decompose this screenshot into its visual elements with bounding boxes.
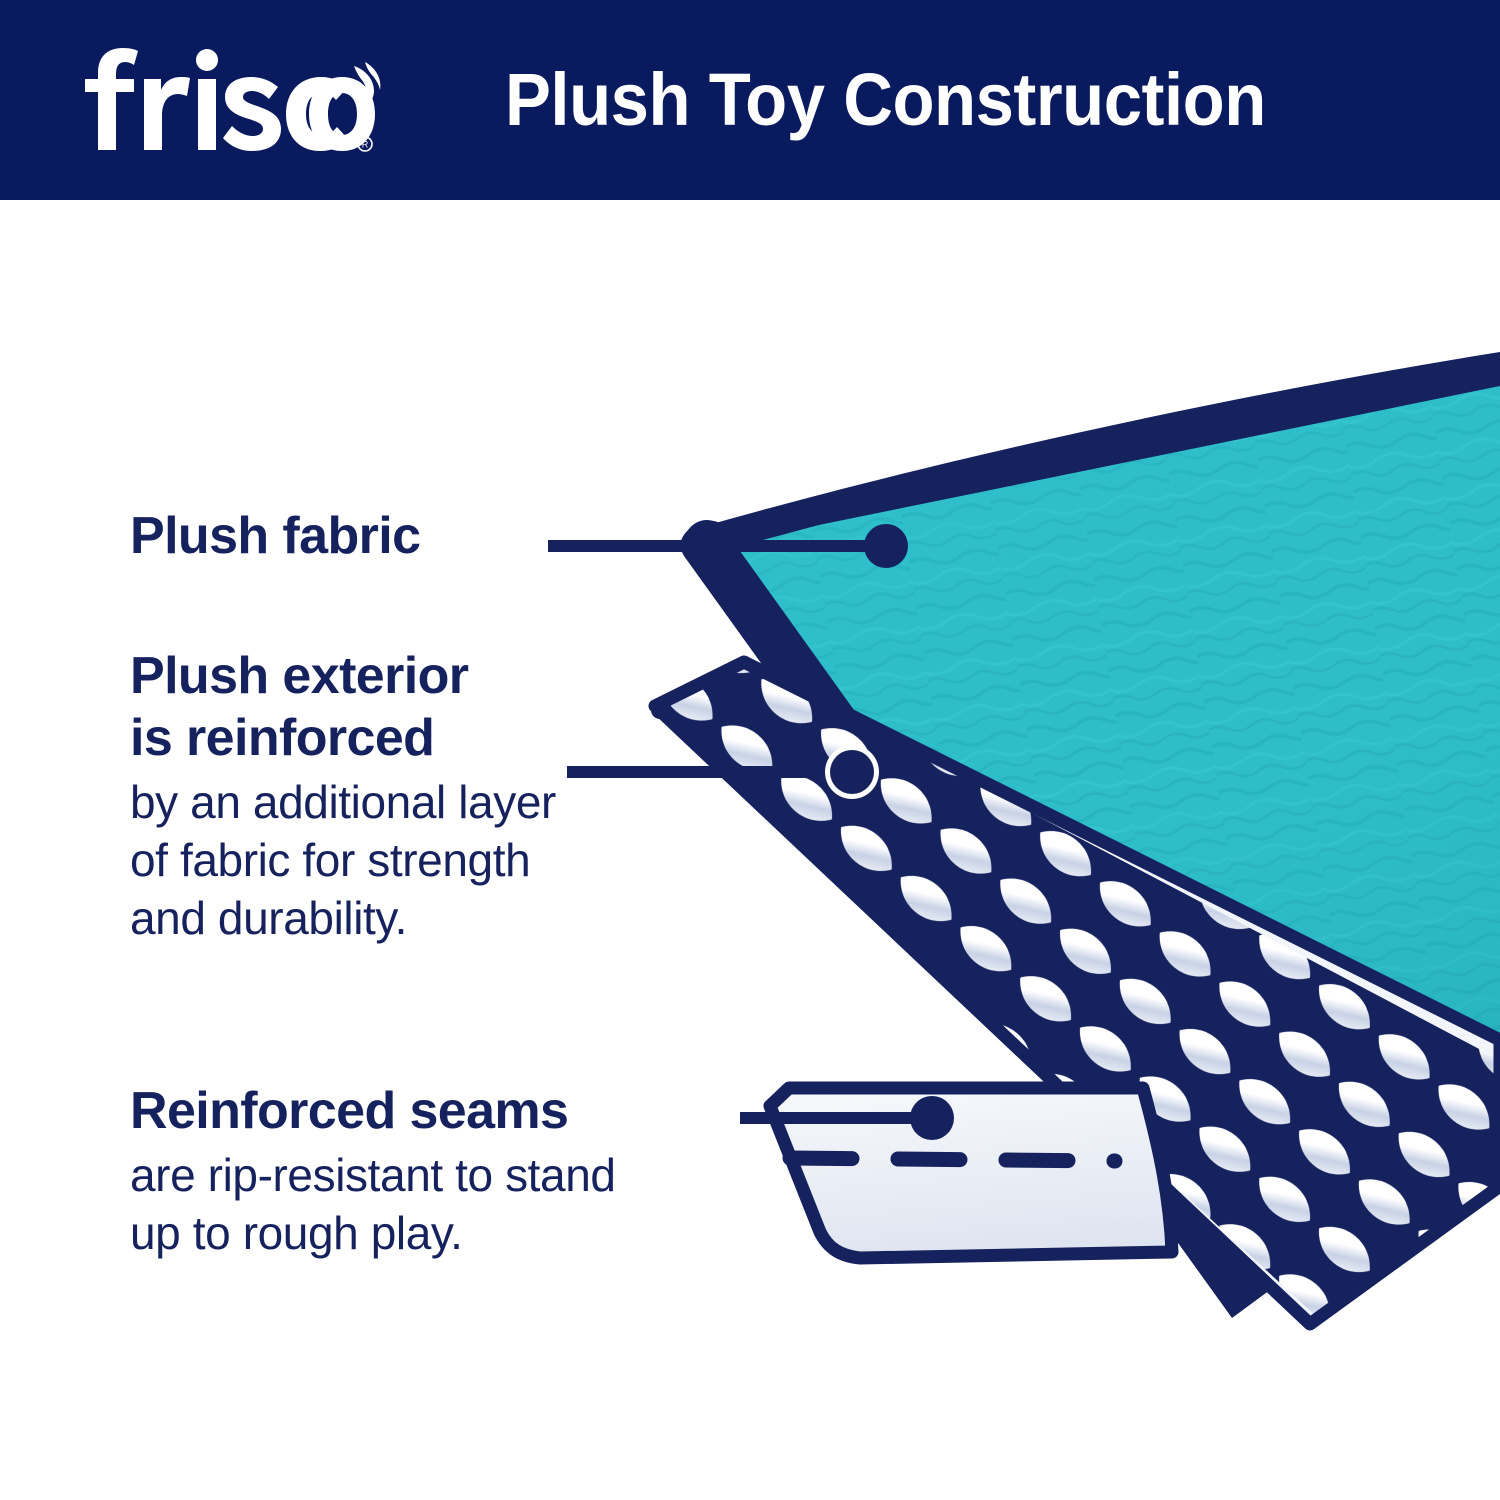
callout-body-seams-line-1: are rip-resistant to stand	[130, 1146, 616, 1204]
callout-body-line-2: of fabric for strength	[130, 831, 556, 889]
callout-heading-reinforced-seams: Reinforced seams	[130, 1080, 616, 1142]
callout-body-line-1: by an additional layer	[130, 773, 556, 831]
callout-reinforced-seams: Reinforced seams are rip-resistant to st…	[130, 1080, 616, 1262]
callout-plush-exterior: Plush exterior is reinforced by an addit…	[130, 645, 556, 947]
callout-heading-line-2: is reinforced	[130, 707, 556, 769]
stitch-dashes	[790, 1158, 1115, 1161]
callout-heading-line-1: Plush exterior	[130, 645, 556, 707]
callout-heading-plush-fabric: Plush fabric	[130, 505, 420, 567]
callout-body-plush-exterior: by an additional layer of fabric for str…	[130, 773, 556, 947]
callout-body-seams-line-2: up to rough play.	[130, 1204, 616, 1262]
callout-body-line-3: and durability.	[130, 889, 556, 947]
infographic-page: R frisco Plush Toy Construction	[0, 0, 1500, 1500]
callout-plush-fabric: Plush fabric	[130, 505, 420, 567]
callout-body-reinforced-seams: are rip-resistant to stand up to rough p…	[130, 1146, 616, 1262]
